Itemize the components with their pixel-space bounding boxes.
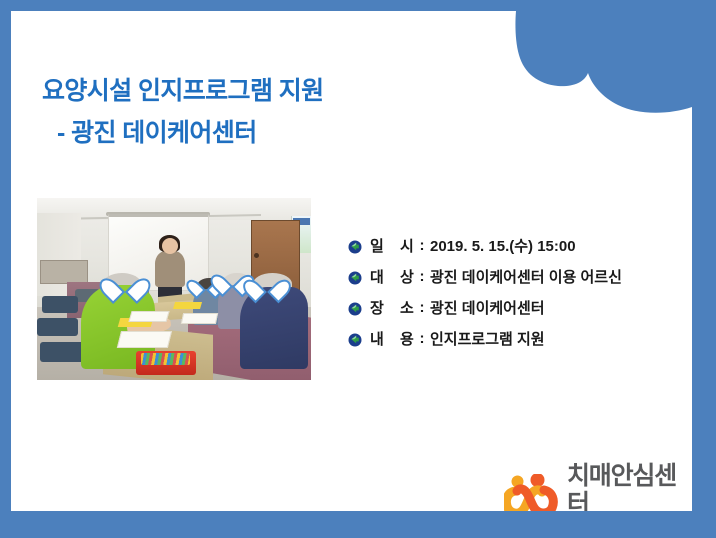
page-title: 요양시설 인지프로그램 지원 - 광진 데이케어센터: [42, 70, 482, 154]
list-item: 일 시 : 2019. 5. 15.(수) 15:00: [348, 230, 692, 261]
detail-colon: :: [414, 299, 430, 316]
dementia-center-logo-icon: [504, 474, 558, 511]
event-details-list: 일 시 : 2019. 5. 15.(수) 15:00 대 상 : 광진 데이케…: [348, 230, 692, 354]
list-item: 내 용 : 인지프로그램 지원: [348, 323, 692, 354]
detail-value: 2019. 5. 15.(수) 15:00: [430, 235, 576, 256]
detail-label: 장 소: [370, 297, 414, 318]
logo-text-block: 치매안심센터 서울특별시 광진구보건소: [567, 462, 692, 511]
slide-canvas: 요양시설 인지프로그램 지원 - 광진 데이케어센터: [11, 11, 692, 511]
list-item: 대 상 : 광진 데이케어센터 이용 어르신: [348, 261, 692, 292]
detail-value: 광진 데이케어센터 이용 어르신: [430, 266, 622, 287]
face-mask-heart: [251, 269, 283, 298]
arrow-badge-icon: [348, 302, 362, 316]
event-photo-scene: [37, 198, 311, 380]
list-item: 장 소 : 광진 데이케어센터: [348, 292, 692, 323]
arrow-badge-icon: [348, 240, 362, 254]
title-line-2: - 광진 데이케어센터: [42, 112, 482, 154]
event-photo: [37, 198, 311, 380]
logo-title: 치매안심센터: [567, 462, 692, 511]
detail-value: 인지프로그램 지원: [430, 328, 545, 349]
detail-colon: :: [414, 330, 430, 347]
organization-logo: 치매안심센터 서울특별시 광진구보건소: [504, 462, 692, 511]
detail-label: 일 시: [370, 235, 414, 256]
slide-frame: 요양시설 인지프로그램 지원 - 광진 데이케어센터: [0, 0, 716, 538]
detail-label: 대 상: [370, 266, 414, 287]
detail-colon: :: [414, 237, 430, 254]
detail-value: 광진 데이케어센터: [430, 297, 545, 318]
arrow-badge-icon: [348, 333, 362, 347]
arrow-badge-icon: [348, 271, 362, 285]
title-line-1: 요양시설 인지프로그램 지원: [42, 70, 482, 112]
detail-colon: :: [414, 268, 430, 285]
detail-label: 내 용: [370, 328, 414, 349]
face-mask-heart: [108, 267, 142, 298]
